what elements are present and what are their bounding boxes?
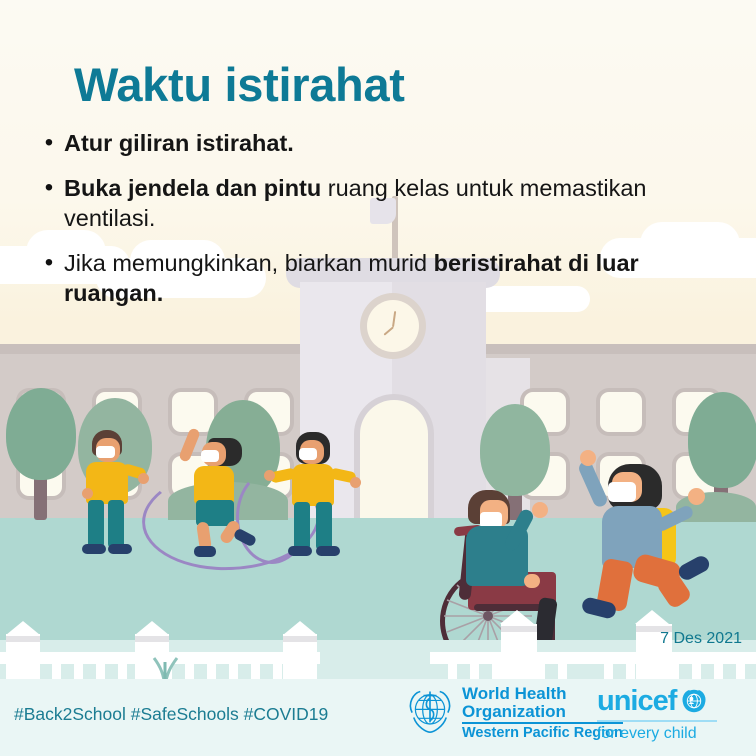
fence-post-band bbox=[6, 636, 40, 642]
fence-post-band bbox=[501, 626, 537, 632]
fence-post-cap bbox=[500, 610, 534, 624]
face-mask-icon bbox=[608, 482, 636, 502]
who-logo: World Health Organization Western Pacifi… bbox=[404, 685, 623, 741]
fence-post-band bbox=[283, 636, 317, 642]
child-hand bbox=[580, 450, 596, 466]
bullet-text: Buka jendela dan pintu ruang kelas untuk… bbox=[64, 173, 724, 233]
face-mask-icon bbox=[96, 446, 115, 458]
child-jumping-with-backpack bbox=[586, 450, 716, 630]
child-pants bbox=[108, 500, 124, 548]
fence-post-cap bbox=[6, 621, 40, 635]
child-shoe bbox=[82, 544, 106, 554]
bullet-list: • Atur giliran istirahat. • Buka jendela… bbox=[34, 128, 724, 323]
child-hand bbox=[138, 473, 149, 484]
fence-post-cap bbox=[283, 621, 317, 635]
child-hand bbox=[350, 477, 361, 488]
child-hand bbox=[264, 470, 275, 481]
list-item: • Buka jendela dan pintu ruang kelas unt… bbox=[34, 173, 724, 233]
school-window bbox=[600, 392, 642, 432]
child-hand bbox=[688, 488, 705, 505]
unicef-emblem-icon bbox=[679, 686, 709, 716]
bullet-marker: • bbox=[34, 128, 64, 158]
list-item: • Jika memungkinkan, biarkan murid beris… bbox=[34, 248, 724, 308]
unicef-wordmark: unicef bbox=[597, 687, 676, 716]
page-title: Waktu istirahat bbox=[74, 57, 405, 112]
unicef-logo: unicef for every child bbox=[597, 686, 717, 743]
child-arm-raised bbox=[178, 427, 201, 463]
bullet-marker: • bbox=[34, 248, 64, 308]
bullet-marker: • bbox=[34, 173, 64, 233]
unicef-top-row: unicef bbox=[597, 686, 717, 716]
child-shoe bbox=[316, 546, 340, 556]
list-item: • Atur giliran istirahat. bbox=[34, 128, 724, 158]
date-label: 7 Des 2021 bbox=[660, 630, 742, 648]
child-hand bbox=[532, 502, 548, 518]
tree-crown-icon bbox=[6, 388, 76, 480]
child-shoe bbox=[194, 546, 216, 557]
child-hand bbox=[82, 488, 93, 499]
child-shoe bbox=[108, 544, 132, 554]
tree-crown-icon bbox=[480, 404, 550, 496]
child-shirt bbox=[194, 466, 234, 504]
fence-post-band bbox=[135, 636, 169, 642]
child-hand bbox=[524, 574, 540, 588]
child-jumping-rope bbox=[180, 422, 250, 534]
child-rope-holder-left bbox=[76, 430, 146, 540]
face-mask-icon bbox=[201, 450, 219, 462]
school-wing-left-cornice bbox=[0, 344, 300, 354]
child-pants bbox=[316, 502, 332, 550]
child-shirt bbox=[292, 464, 334, 506]
school-entrance-door bbox=[360, 400, 428, 520]
clock-hand-hour bbox=[383, 326, 394, 336]
child-pants bbox=[294, 502, 310, 550]
poster-canvas: 7 Des 2021 Waktu istirahat • Atur gilira… bbox=[0, 0, 756, 756]
unicef-tagline: for every child bbox=[597, 725, 717, 743]
child-rope-holder-right bbox=[282, 432, 356, 544]
school-wing-right-cornice bbox=[460, 344, 756, 354]
unicef-divider bbox=[597, 720, 717, 722]
fence-post-cap bbox=[135, 621, 169, 635]
hashtags: #Back2School #SafeSchools #COVID19 bbox=[14, 704, 328, 725]
who-emblem-icon bbox=[404, 685, 456, 737]
bullet-text: Atur giliran istirahat. bbox=[64, 128, 294, 158]
child-pants bbox=[88, 500, 104, 548]
bullet-text: Jika memungkinkan, biarkan murid beristi… bbox=[64, 248, 724, 308]
child-shoe bbox=[288, 546, 312, 556]
child-shoe bbox=[676, 553, 712, 582]
face-mask-icon bbox=[299, 448, 317, 460]
fence-post-cap bbox=[635, 610, 669, 624]
